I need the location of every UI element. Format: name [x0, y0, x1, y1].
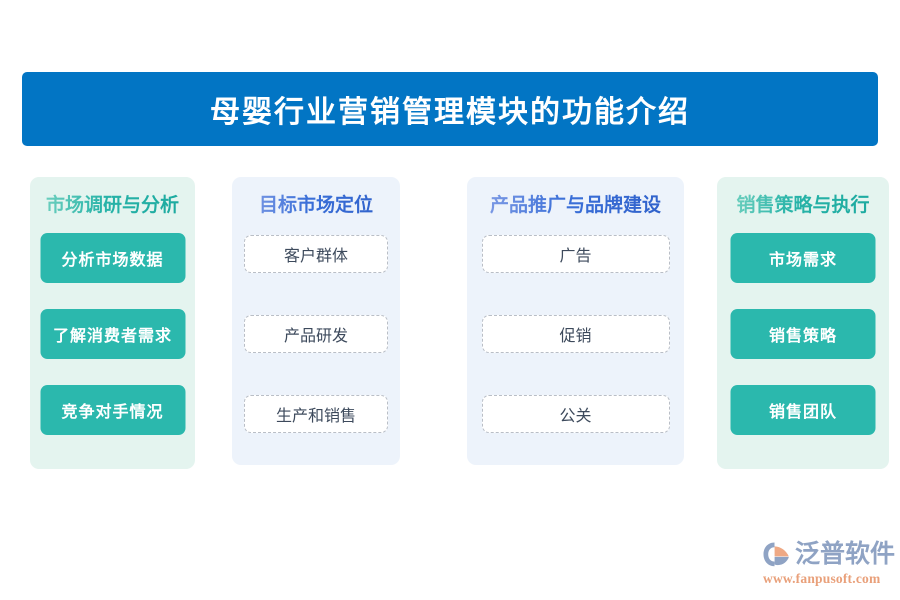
logo-row: 泛普软件	[762, 538, 894, 570]
item-chip[interactable]: 了解消费者需求	[40, 309, 185, 359]
logo-url: www.fanpusoft.com	[763, 571, 894, 587]
item-chip[interactable]: 销售策略	[731, 309, 876, 359]
column-heading: 产品推广与品牌建设	[467, 191, 684, 221]
item-chip[interactable]: 销售团队	[731, 385, 876, 435]
column-panel-target-market: 目标市场定位 客户群体 产品研发 生产和销售	[232, 177, 400, 465]
column-panel-sales-strategy: 销售策略与执行 市场需求 销售策略 销售团队	[717, 177, 889, 469]
item-chip[interactable]: 公关	[482, 395, 670, 433]
column-panel-market-research: 市场调研与分析 分析市场数据 了解消费者需求 竞争对手情况	[30, 177, 195, 469]
columns-container: 市场调研与分析 分析市场数据 了解消费者需求 竞争对手情况 目标市场定位 客户群…	[0, 177, 900, 469]
brand-logo: 泛普软件 www.fanpusoft.com	[762, 538, 894, 586]
fanpu-arc-logo-icon	[762, 541, 792, 568]
item-chip[interactable]: 促销	[482, 315, 670, 353]
column-heading: 目标市场定位	[232, 191, 400, 221]
column-panel-promotion-branding: 产品推广与品牌建设 广告 促销 公关	[467, 177, 684, 465]
item-chip[interactable]: 竞争对手情况	[40, 385, 185, 435]
page-title: 母婴行业营销管理模块的功能介绍	[210, 87, 690, 131]
column-heading: 销售策略与执行	[717, 191, 889, 221]
item-chip[interactable]: 市场需求	[731, 233, 876, 283]
column-heading: 市场调研与分析	[30, 191, 195, 221]
page-banner: 母婴行业营销管理模块的功能介绍	[22, 72, 878, 146]
item-chip[interactable]: 产品研发	[244, 315, 388, 353]
item-chip[interactable]: 广告	[482, 235, 670, 273]
item-chip[interactable]: 客户群体	[244, 235, 388, 273]
item-chip[interactable]: 分析市场数据	[40, 233, 185, 283]
item-chip[interactable]: 生产和销售	[244, 395, 388, 433]
logo-wordmark: 泛普软件	[795, 541, 895, 568]
